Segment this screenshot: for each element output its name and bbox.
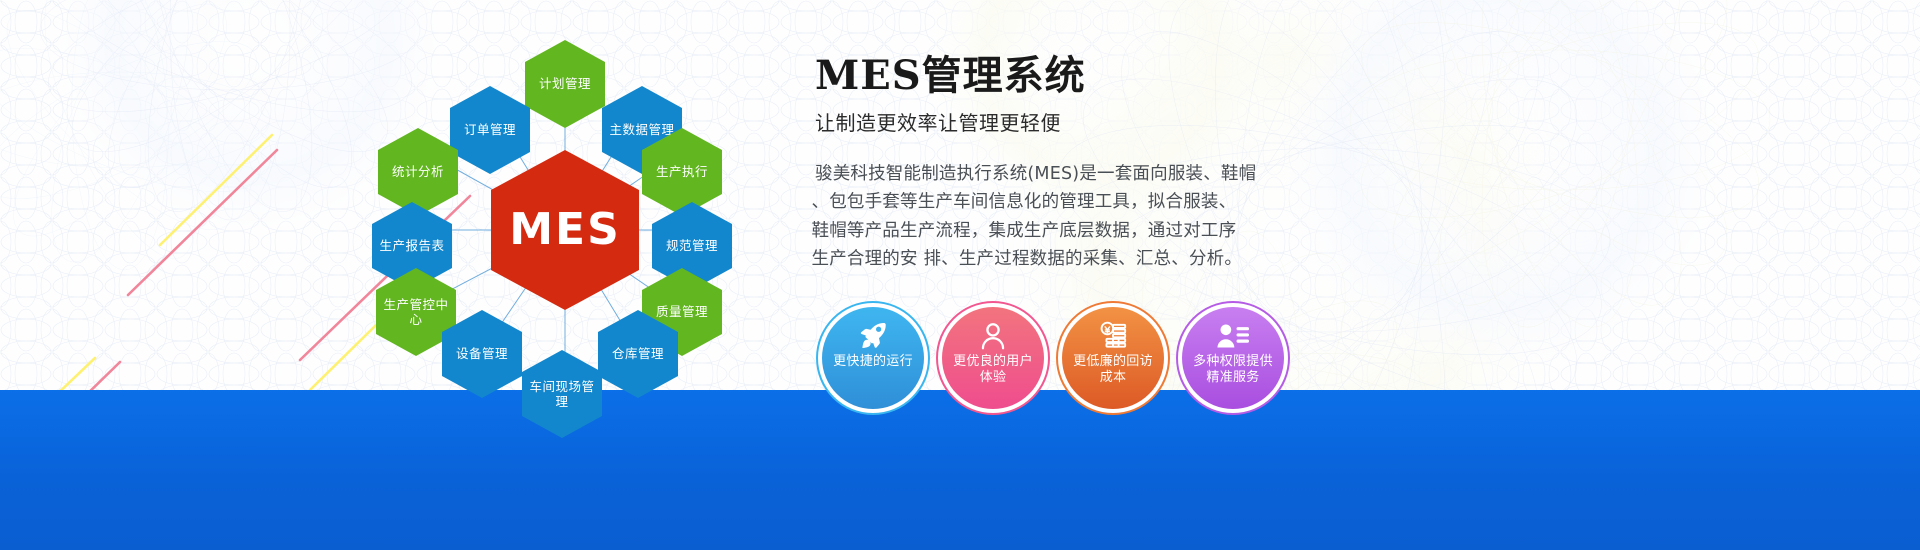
diagram-node-label: 主数据管理 [605,122,678,137]
feature-label-line2: 成本 [1092,370,1135,386]
feature-label-line1: 更快捷的运行 [825,354,921,370]
diagram-node-label: 订单管理 [460,122,520,137]
description-line: 、包包手套等生产车间信息化的管理工具，拟合服装、 [815,188,1285,216]
diagram-node-label: 质量管理 [652,304,712,319]
diagram-node-label: 生产管控中心 [376,297,456,328]
user-icon [979,321,1007,351]
mes-hexagon-diagram: MES 计划管理 订单管理 主数据管理 生产执行 统计分析 规范管理 生产报告表… [330,20,800,440]
diagram-node-label: 设备管理 [452,346,512,361]
feature-label-line1: 更优良的用户 [945,354,1041,370]
page-title: MES管理系统 [815,55,1535,97]
feature-circle-cost[interactable]: 更低廉的回访 成本 [1058,303,1168,413]
bottom-blue-band [0,390,1920,550]
feature-circle-experience[interactable]: 更优良的用户 体验 [938,303,1048,413]
money-stack-icon [1098,321,1128,351]
page-subtitle: 让制造更效率让管理更轻便 [815,107,1535,136]
description-line: 生产合理的安 排、生产过程数据的采集、汇总、分析。 [815,245,1285,273]
feature-circle-speed[interactable]: 更快捷的运行 [818,303,928,413]
feature-circles: 更快捷的运行 更优良的用户 体验 [818,303,1288,413]
diagram-node-label: 生产执行 [652,164,712,179]
rocket-icon [858,321,888,351]
feature-label-line1: 多种权限提供 [1185,354,1281,370]
diagram-node-label: 规范管理 [662,238,722,253]
description-line: 骏美科技智能制造执行系统(MES)是一套面向服装、鞋帽 [815,160,1285,188]
banner-stage: MES 计划管理 订单管理 主数据管理 生产执行 统计分析 规范管理 生产报告表… [0,0,1920,550]
feature-circle-permissions[interactable]: 多种权限提供 精准服务 [1178,303,1288,413]
diagram-node-label: 计划管理 [535,76,595,91]
diagram-node-label: 统计分析 [388,164,448,179]
diagram-center-label: MES [505,203,625,257]
diagram-node-label: 仓库管理 [608,346,668,361]
banner-copy: MES管理系统 让制造更效率让管理更轻便 骏美科技智能制造执行系统(MES)是一… [815,55,1535,273]
description-paragraph: 骏美科技智能制造执行系统(MES)是一套面向服装、鞋帽 、包包手套等生产车间信息… [815,160,1285,273]
description-line: 鞋帽等产品生产流程，集成生产底层数据，通过对工序 [815,217,1285,245]
diagram-node-label: 车间现场管理 [522,379,602,410]
feature-label-line2: 精准服务 [1198,370,1267,386]
user-permissions-icon [1217,321,1249,351]
feature-label-line1: 更低廉的回访 [1065,354,1161,370]
diagram-node-label: 生产报告表 [375,238,448,253]
feature-label-line2: 体验 [972,370,1015,386]
